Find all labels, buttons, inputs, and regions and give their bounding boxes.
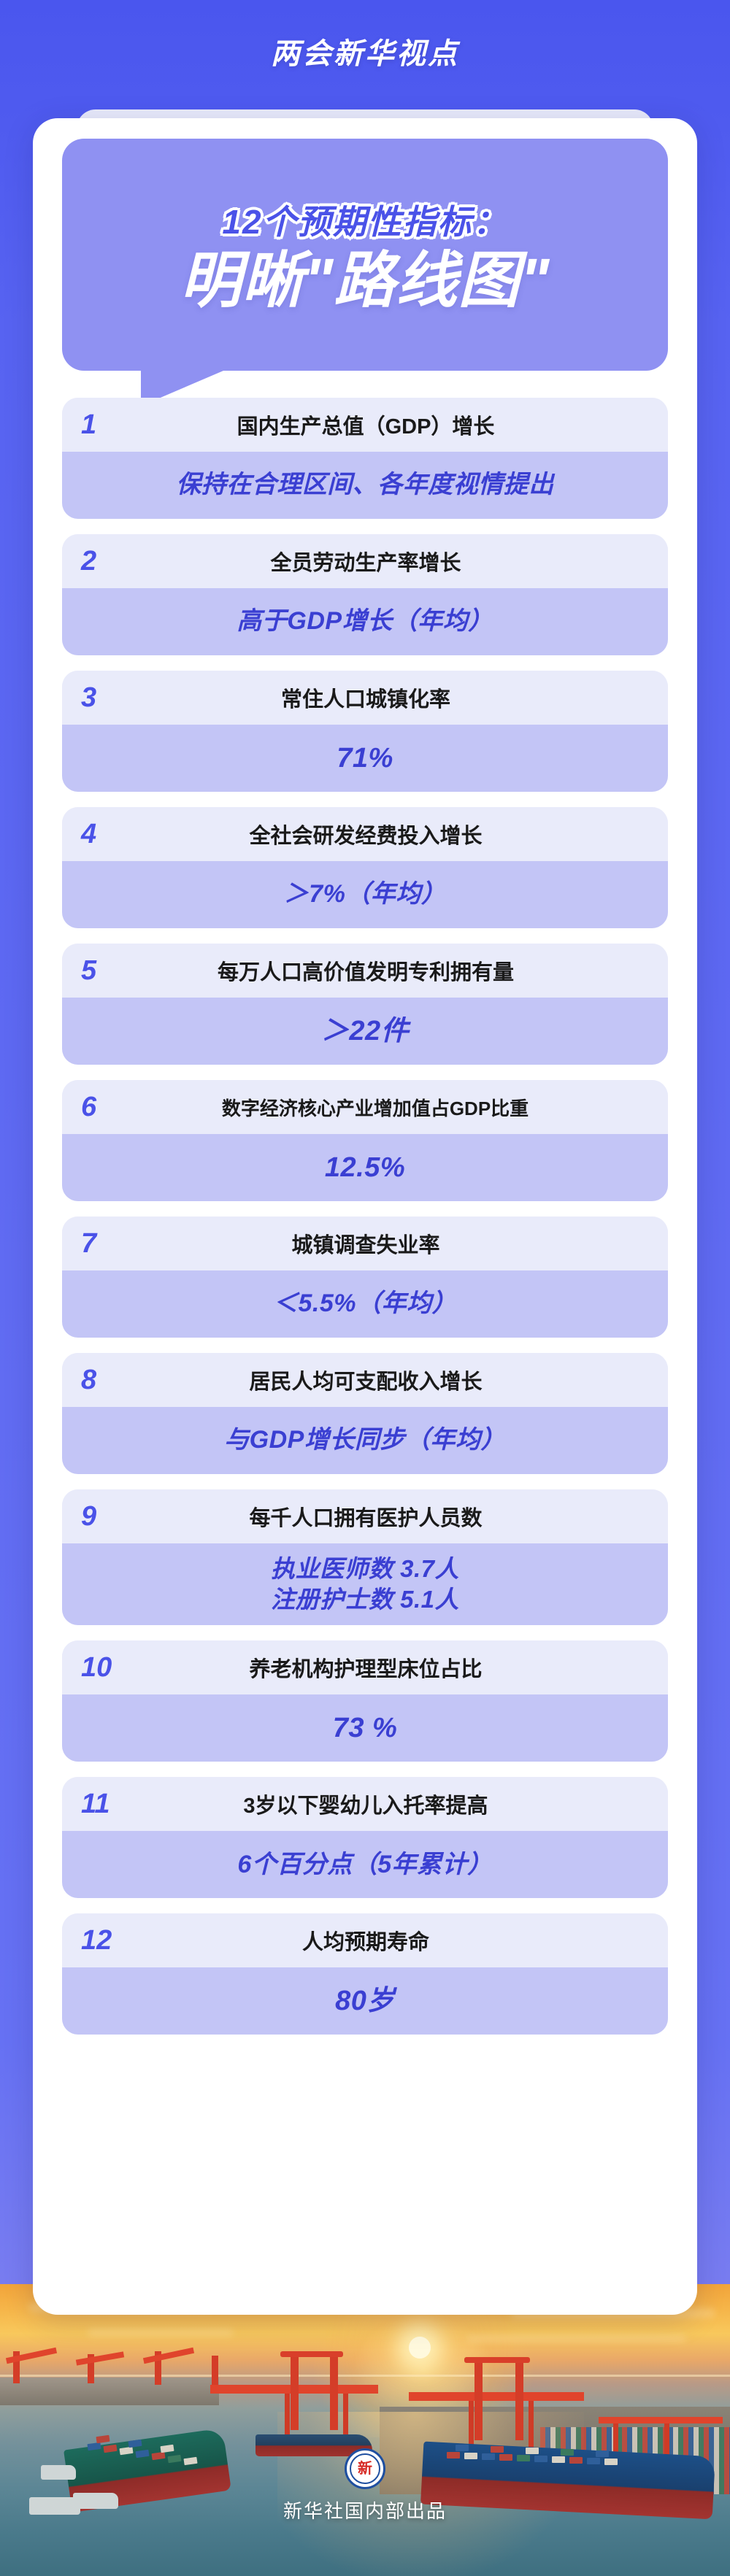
indicator-card: 4全社会研发经费投入增长＞7%（年均）	[62, 807, 668, 928]
indicator-label: 养老机构护理型床位占比	[128, 1652, 649, 1683]
indicator-value-row: ＞7%（年均）	[62, 861, 668, 928]
indicator-header: 6数字经济核心产业增加值占GDP比重	[62, 1080, 668, 1134]
crane-icon	[6, 2348, 57, 2364]
indicator-label: 全员劳动生产率增长	[128, 546, 649, 576]
left-wharf	[0, 2378, 219, 2405]
indicator-value-row: ＞22件	[62, 998, 668, 1065]
indicator-number: 6	[81, 1093, 128, 1121]
indicator-label: 每万人口高价值发明专利拥有量	[128, 955, 649, 986]
indicator-card: 12人均预期寿命80岁	[62, 1913, 668, 2035]
indicator-number: 9	[81, 1503, 128, 1530]
indicator-card: 10养老机构护理型床位占比73 %	[62, 1640, 668, 1762]
title-block: 12个预期性指标： 明晰"路线图"	[62, 139, 668, 371]
indicator-header: 5每万人口高价值发明专利拥有量	[62, 944, 668, 998]
indicator-value: ＞7%（年均）	[284, 879, 447, 911]
indicator-label: 常住人口城镇化率	[128, 682, 649, 713]
indicator-card: 2全员劳动生产率增长高于GDP增长（年均）	[62, 534, 668, 655]
indicator-value: ＜5.5%（年均）	[273, 1288, 457, 1320]
gantry-crane-icon	[529, 2401, 534, 2453]
indicator-value-row: 73 %	[62, 1694, 668, 1762]
indicator-label: 城镇调查失业率	[128, 1228, 649, 1259]
cloud	[88, 2329, 234, 2336]
indicator-value-row: 6个百分点（5年累计）	[62, 1831, 668, 1898]
indicator-value: 执业医师数 3.7人 注册护士数 5.1人	[271, 1554, 459, 1615]
gantry-crane-icon	[464, 2357, 530, 2363]
indicator-header: 2全员劳动生产率增长	[62, 534, 668, 588]
indicator-number: 12	[81, 1927, 128, 1954]
indicator-label: 居民人均可支配收入增长	[128, 1365, 649, 1395]
indicator-value-row: 80岁	[62, 1967, 668, 2035]
indicator-value-row: 12.5%	[62, 1134, 668, 1201]
gantry-crane-icon	[599, 2417, 723, 2423]
indicator-value: 71%	[337, 741, 393, 776]
indicator-value: 80岁	[335, 1983, 395, 2019]
indicator-card: 6数字经济核心产业增加值占GDP比重12.5%	[62, 1080, 668, 1201]
footer: 新 新华社国内部出品	[0, 2448, 730, 2523]
indicator-list: 1国内生产总值（GDP）增长保持在合理区间、各年度视情提出2全员劳动生产率增长高…	[62, 398, 668, 2050]
sun	[409, 2337, 431, 2359]
indicator-number: 1	[81, 411, 128, 439]
indicator-number: 11	[81, 1790, 128, 1818]
indicator-number: 3	[81, 684, 128, 712]
indicator-label: 人均预期寿命	[128, 1925, 649, 1956]
indicator-value: 保持在合理区间、各年度视情提出	[176, 469, 554, 501]
indicator-label: 每千人口拥有医护人员数	[128, 1501, 649, 1532]
cloud	[467, 2335, 686, 2342]
indicator-label: 国内生产总值（GDP）增长	[128, 409, 649, 440]
indicator-label: 数字经济核心产业增加值占GDP比重	[128, 1094, 649, 1121]
page-title: 两会新华视点	[271, 30, 459, 72]
port-photo	[0, 2284, 730, 2576]
indicator-card: 3常住人口城镇化率71%	[62, 671, 668, 792]
indicator-value-row: ＜5.5%（年均）	[62, 1270, 668, 1338]
xinhua-logo-ring: 新	[350, 2453, 380, 2484]
indicator-value-row: 执业医师数 3.7人 注册护士数 5.1人	[62, 1543, 668, 1625]
xinhua-logo-mark: 新	[358, 2461, 372, 2476]
gantry-crane-icon	[280, 2351, 343, 2357]
crane-icon	[212, 2356, 218, 2385]
gantry-crane-icon	[409, 2392, 584, 2401]
title-line-1: 12个预期性指标：	[222, 196, 507, 244]
title-line-2: 明晰"路线图"	[180, 248, 550, 313]
indicator-value-row: 高于GDP增长（年均）	[62, 588, 668, 655]
indicator-number: 7	[81, 1230, 128, 1257]
footer-credit: 新华社国内部出品	[283, 2496, 447, 2523]
indicator-header: 4全社会研发经费投入增长	[62, 807, 668, 861]
gantry-crane-icon	[474, 2360, 483, 2440]
horizon-line	[0, 2375, 730, 2377]
indicator-card: 5每万人口高价值发明专利拥有量＞22件	[62, 944, 668, 1065]
indicator-card: 7城镇调查失业率＜5.5%（年均）	[62, 1216, 668, 1338]
indicator-header: 113岁以下婴幼儿入托率提高	[62, 1777, 668, 1831]
indicator-value-row: 与GDP增长同步（年均）	[62, 1407, 668, 1474]
indicator-value: 73 %	[333, 1711, 398, 1746]
indicator-header: 8居民人均可支配收入增长	[62, 1353, 668, 1407]
indicator-label: 3岁以下婴幼儿入托率提高	[128, 1789, 649, 1819]
indicator-number: 2	[81, 547, 128, 575]
gantry-crane-icon	[330, 2354, 338, 2430]
indicator-number: 8	[81, 1366, 128, 1394]
indicator-card: 113岁以下婴幼儿入托率提高6个百分点（5年累计）	[62, 1777, 668, 1898]
indicator-number: 4	[81, 820, 128, 848]
gantry-crane-icon	[515, 2360, 523, 2440]
indicator-header: 9每千人口拥有医护人员数	[62, 1489, 668, 1543]
indicator-header: 1国内生产总值（GDP）增长	[62, 398, 668, 452]
indicator-number: 10	[81, 1654, 128, 1681]
crane-icon	[76, 2351, 124, 2365]
indicator-value: 与GDP增长同步（年均）	[224, 1424, 506, 1457]
container	[96, 2435, 109, 2443]
indicator-card: 8居民人均可支配收入增长与GDP增长同步（年均）	[62, 1353, 668, 1474]
xinhua-logo-icon: 新	[345, 2448, 385, 2489]
indicator-header: 3常住人口城镇化率	[62, 671, 668, 725]
indicator-number: 5	[81, 957, 128, 984]
indicator-label: 全社会研发经费投入增长	[128, 819, 649, 849]
header: 两会新华视点	[0, 0, 730, 102]
indicator-value-row: 71%	[62, 725, 668, 792]
indicator-header: 7城镇调查失业率	[62, 1216, 668, 1270]
indicator-card: 1国内生产总值（GDP）增长保持在合理区间、各年度视情提出	[62, 398, 668, 519]
crane-icon	[143, 2348, 194, 2364]
indicator-value: 高于GDP增长（年均）	[237, 606, 493, 638]
indicator-value: 12.5%	[325, 1150, 405, 1186]
indicator-card: 9每千人口拥有医护人员数执业医师数 3.7人 注册护士数 5.1人	[62, 1489, 668, 1625]
indicator-value-row: 保持在合理区间、各年度视情提出	[62, 452, 668, 519]
gantry-crane-icon	[291, 2354, 299, 2430]
indicator-value: ＞22件	[321, 1014, 409, 1049]
indicator-value: 6个百分点（5年累计）	[237, 1849, 492, 1881]
indicator-header: 12人均预期寿命	[62, 1913, 668, 1967]
indicator-header: 10养老机构护理型床位占比	[62, 1640, 668, 1694]
